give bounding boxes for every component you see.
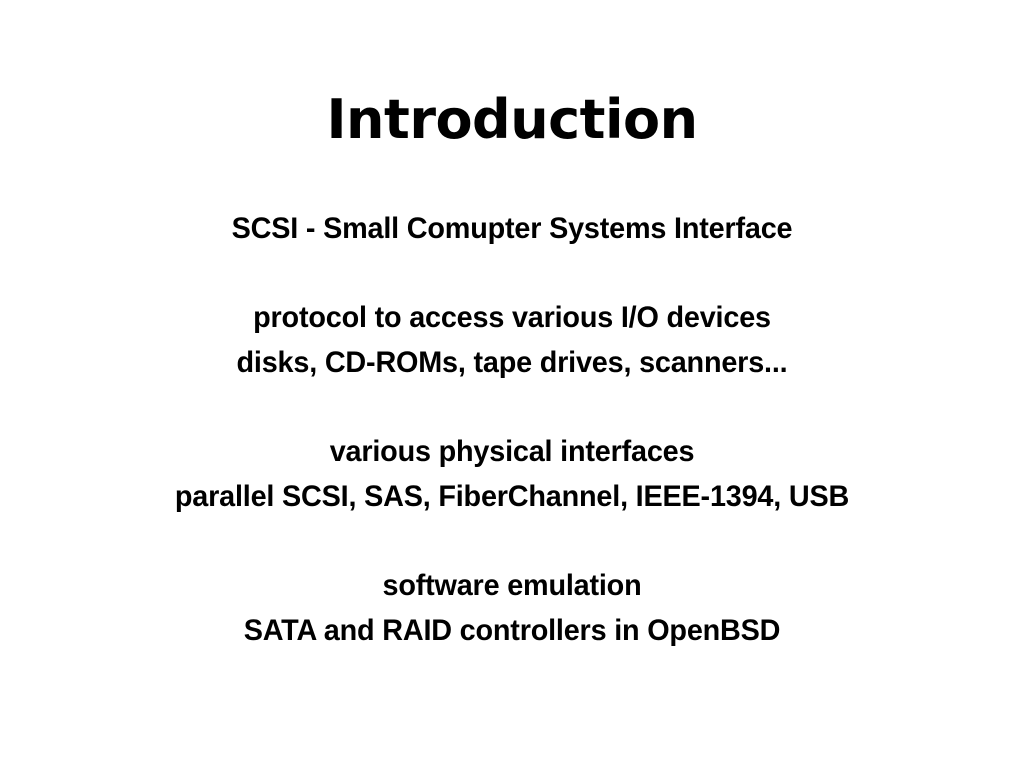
- body-line: protocol to access various I/O devices: [20, 295, 1003, 340]
- protocol-block: protocol to access various I/O devices d…: [0, 295, 1024, 385]
- slide-body: SCSI - Small Comupter Systems Interface …: [0, 206, 1024, 653]
- presentation-slide: Introduction SCSI - Small Comupter Syste…: [0, 0, 1024, 768]
- slide-title: Introduction: [0, 88, 1024, 152]
- definition-block: SCSI - Small Comupter Systems Interface: [0, 206, 1024, 251]
- body-line: disks, CD-ROMs, tape drives, scanners...: [20, 340, 1003, 385]
- software-emulation-block: software emulation SATA and RAID control…: [0, 563, 1024, 653]
- physical-interfaces-block: various physical interfaces parallel SCS…: [0, 429, 1024, 519]
- body-line: SCSI - Small Comupter Systems Interface: [20, 206, 1003, 251]
- body-line: SATA and RAID controllers in OpenBSD: [20, 608, 1003, 653]
- body-line: various physical interfaces: [20, 429, 1003, 474]
- body-line: software emulation: [20, 563, 1003, 608]
- body-line: parallel SCSI, SAS, FiberChannel, IEEE-1…: [20, 474, 1003, 519]
